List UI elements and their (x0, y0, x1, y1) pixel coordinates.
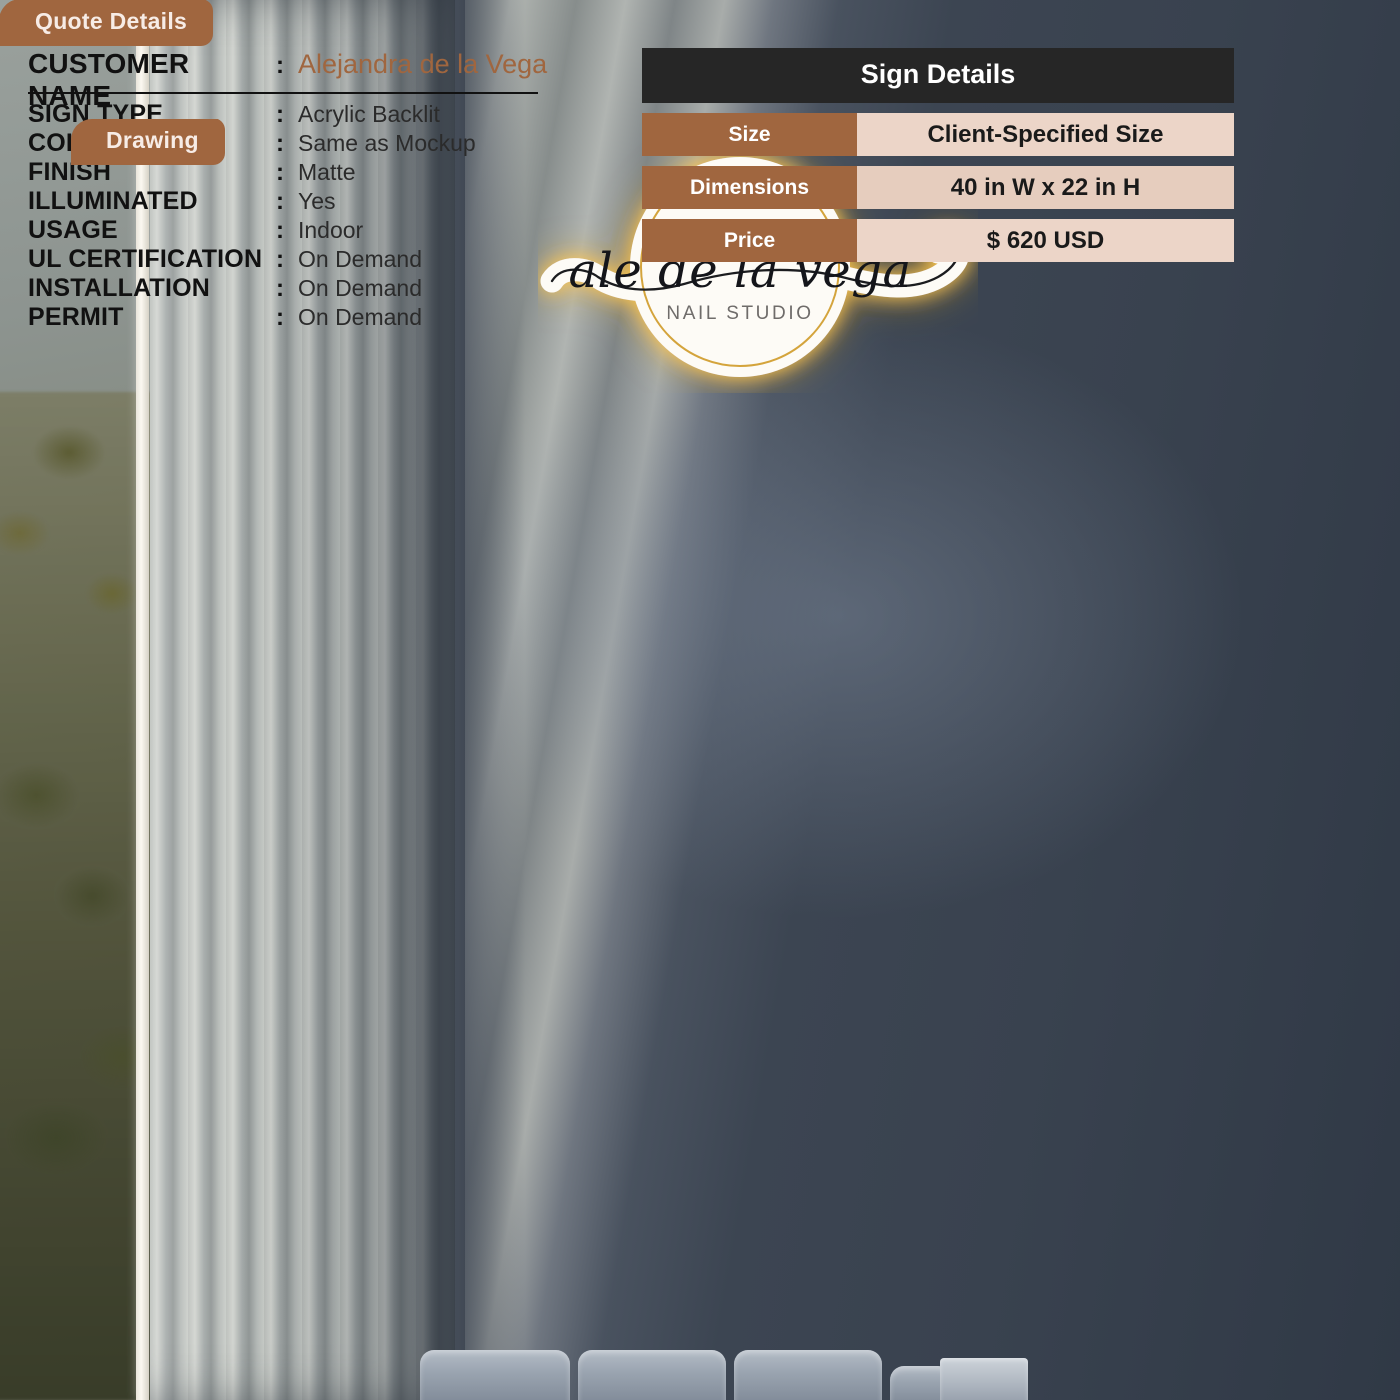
spec-colon: : (276, 304, 298, 332)
spec-colon: : (276, 217, 298, 245)
sign-details-rows: SizeClient-Specified SizeDimensions40 in… (642, 113, 1234, 262)
spec-row-customer-name: CUSTOMER NAME : Alejandra de la Vega (28, 48, 638, 90)
spec-value: On Demand (298, 304, 422, 331)
logo-subtitle: NAIL STUDIO (666, 303, 813, 324)
sign-details-value: $ 620 USD (857, 219, 1234, 262)
sign-details-row: SizeClient-Specified Size (642, 113, 1234, 156)
drawing-section-tab: Drawing (70, 118, 225, 165)
spec-value: Indoor (298, 217, 363, 244)
sign-details-label: Size (642, 113, 857, 156)
spec-value: On Demand (298, 275, 422, 302)
spec-row: INSTALLATION:On Demand (28, 274, 638, 303)
sign-details-value: Client-Specified Size (857, 113, 1234, 156)
spec-colon: : (276, 188, 298, 216)
spec-key: UL CERTIFICATION (28, 245, 276, 274)
sign-details-row: Dimensions40 in W x 22 in H (642, 166, 1234, 209)
spec-key: ILLUMINATED (28, 187, 276, 216)
spec-key: PERMIT (28, 303, 276, 332)
spec-key: INSTALLATION (28, 274, 276, 303)
quote-sheet: ACRYLIC BACKLIT Drawing 40" 22" (0, 0, 1400, 1400)
sign-details-title: Sign Details (642, 48, 1234, 103)
spec-row: USAGE:Indoor (28, 216, 638, 245)
spec-value: On Demand (298, 246, 422, 273)
spec-row: ILLUMINATED:Yes (28, 187, 638, 216)
spec-colon: : (276, 246, 298, 274)
spec-value: Matte (298, 159, 356, 186)
spec-row: PERMIT:On Demand (28, 303, 638, 332)
sign-details-label: Dimensions (642, 166, 857, 209)
spec-key: USAGE (28, 216, 276, 245)
quote-details-section-tab: Quote Details (0, 0, 213, 46)
sign-details-value: 40 in W x 22 in H (857, 166, 1234, 209)
spec-colon: : (276, 275, 298, 303)
spec-colon: : (276, 159, 298, 187)
tree-foliage (0, 392, 155, 552)
sign-details-row: Price$ 620 USD (642, 219, 1234, 262)
spec-value: Acrylic Backlit (298, 101, 440, 128)
sign-details-label: Price (642, 219, 857, 262)
spec-colon: : (276, 101, 298, 129)
spec-list: CUSTOMER NAME : Alejandra de la Vega SIG… (28, 48, 638, 332)
spec-colon: : (276, 130, 298, 158)
spec-value: Yes (298, 188, 336, 215)
spec-value: Same as Mockup (298, 130, 476, 157)
spec-row: UL CERTIFICATION:On Demand (28, 245, 638, 274)
spec-colon: : (276, 52, 298, 80)
customer-name-value: Alejandra de la Vega (298, 49, 547, 80)
sign-details-table: Sign Details SizeClient-Specified SizeDi… (642, 48, 1234, 262)
